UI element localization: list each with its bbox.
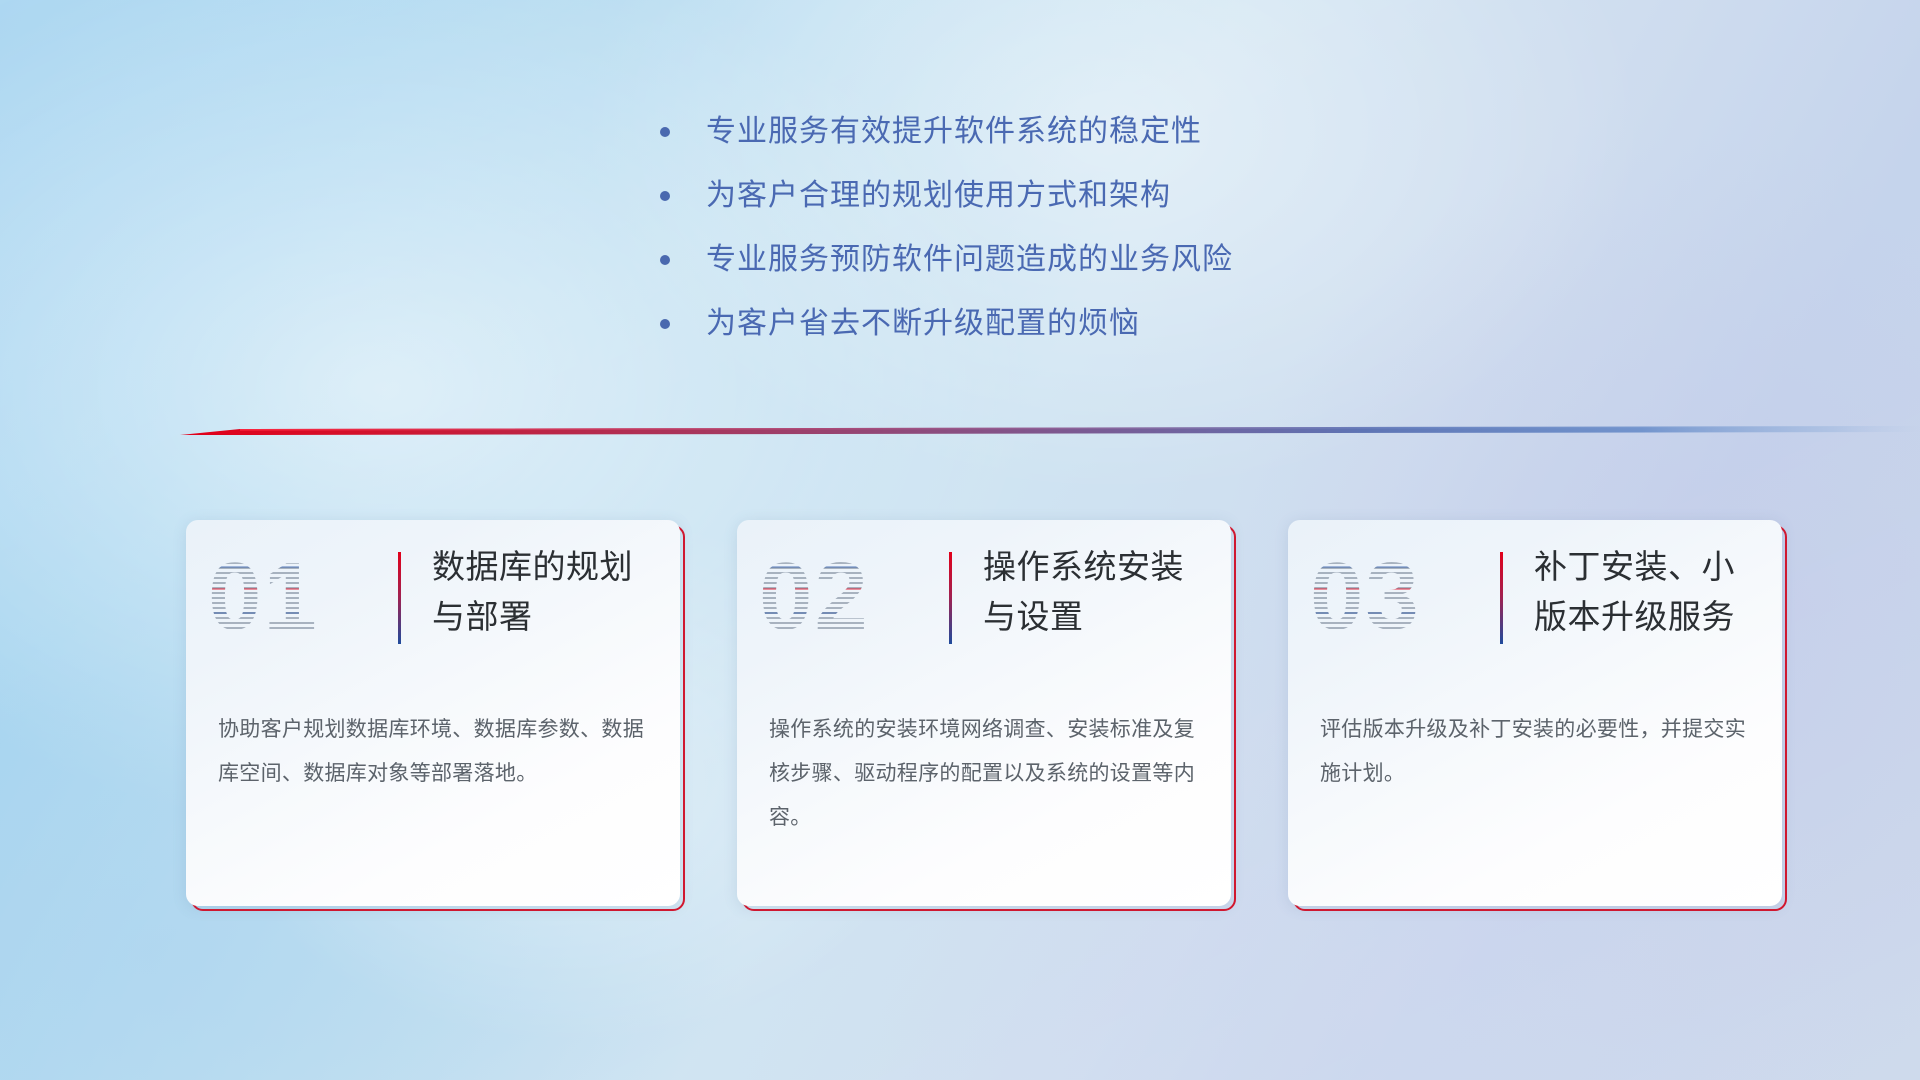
bullet-item: 为客户省去不断升级配置的烦恼 xyxy=(660,304,1560,368)
service-card[interactable]: 03 03 补丁安装、小版本升级服务 评估版本升级及补丁安装的必要性，并提交实施… xyxy=(1288,520,1782,906)
service-card-list: 01 01 数据库的规划与部署 协助客户规划数据库环境、数据库参数、数据库空间、… xyxy=(186,520,1782,906)
card-number-watermark-tint: 02 xyxy=(759,542,909,652)
bullet-item: 专业服务预防软件问题造成的业务风险 xyxy=(660,240,1560,304)
service-card[interactable]: 02 02 操作系统安装与设置 操作系统的安装环境网络调查、安装标准及复核步骤、… xyxy=(737,520,1231,906)
card-number-watermark-tint: 03 xyxy=(1310,542,1460,652)
card-description: 操作系统的安装环境网络调查、安装标准及复核步骤、驱动程序的配置以及系统的设置等内… xyxy=(769,708,1199,840)
bullet-text: 专业服务预防软件问题造成的业务风险 xyxy=(706,240,1233,280)
bullet-text: 为客户合理的规划使用方式和架构 xyxy=(706,176,1171,216)
card-body: 03 03 补丁安装、小版本升级服务 评估版本升级及补丁安装的必要性，并提交实施… xyxy=(1288,520,1782,906)
card-header: 03 03 补丁安装、小版本升级服务 xyxy=(1288,520,1782,684)
card-header: 02 02 操作系统安装与设置 xyxy=(737,520,1231,684)
bullet-dot-icon xyxy=(660,319,670,329)
slide-canvas: 专业服务有效提升软件系统的稳定性 为客户合理的规划使用方式和架构 专业服务预防软… xyxy=(0,0,1920,1080)
card-number-watermark-tint: 01 xyxy=(208,542,358,652)
bullet-dot-icon xyxy=(660,255,670,265)
bullet-text: 为客户省去不断升级配置的烦恼 xyxy=(706,304,1140,344)
benefits-bullet-list: 专业服务有效提升软件系统的稳定性 为客户合理的规划使用方式和架构 专业服务预防软… xyxy=(660,112,1560,368)
card-divider-bar xyxy=(1500,552,1503,644)
card-title: 数据库的规划与部署 xyxy=(432,542,662,642)
section-divider xyxy=(180,421,1920,441)
card-body: 01 01 数据库的规划与部署 协助客户规划数据库环境、数据库参数、数据库空间、… xyxy=(186,520,680,906)
bullet-item: 专业服务有效提升软件系统的稳定性 xyxy=(660,112,1560,176)
bullet-dot-icon xyxy=(660,191,670,201)
card-header: 01 01 数据库的规划与部署 xyxy=(186,520,680,684)
service-card[interactable]: 01 01 数据库的规划与部署 协助客户规划数据库环境、数据库参数、数据库空间、… xyxy=(186,520,680,906)
bullet-dot-icon xyxy=(660,127,670,137)
card-description: 评估版本升级及补丁安装的必要性，并提交实施计划。 xyxy=(1320,708,1750,796)
card-title: 补丁安装、小版本升级服务 xyxy=(1534,542,1764,642)
card-title: 操作系统安装与设置 xyxy=(983,542,1213,642)
bullet-item: 为客户合理的规划使用方式和架构 xyxy=(660,176,1560,240)
card-body: 02 02 操作系统安装与设置 操作系统的安装环境网络调查、安装标准及复核步骤、… xyxy=(737,520,1231,906)
card-divider-bar xyxy=(398,552,401,644)
card-description: 协助客户规划数据库环境、数据库参数、数据库空间、数据库对象等部署落地。 xyxy=(218,708,648,796)
card-divider-bar xyxy=(949,552,952,644)
section-divider-shape xyxy=(180,421,1920,441)
bullet-text: 专业服务有效提升软件系统的稳定性 xyxy=(706,112,1202,152)
